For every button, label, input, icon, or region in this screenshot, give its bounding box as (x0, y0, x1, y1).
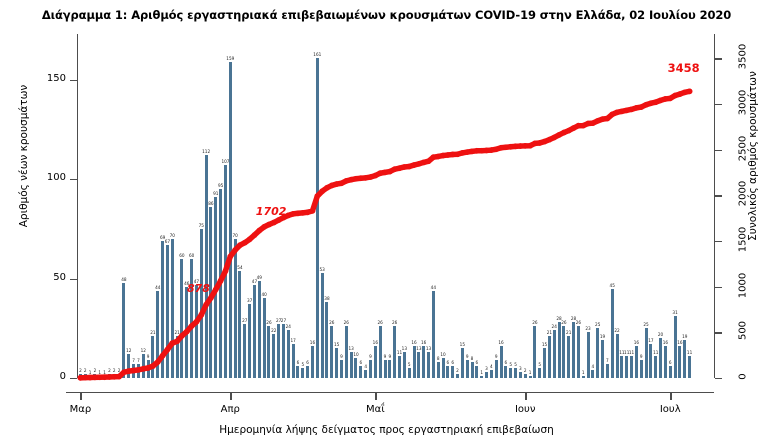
bar (475, 366, 478, 378)
bar (456, 374, 459, 378)
bar (79, 374, 82, 378)
bar (200, 229, 203, 378)
bar-value-label: 9 (147, 354, 150, 359)
bar (553, 330, 556, 378)
bar-value-label: 2 (94, 368, 97, 373)
bar-value-label: 8 (437, 356, 440, 361)
bar-value-label: 26 (392, 320, 397, 325)
bar (422, 346, 425, 378)
bar (674, 316, 677, 378)
bar (490, 370, 493, 378)
bar-value-label: 6 (669, 360, 672, 365)
chart-title: Διάγραμμα 1: Αριθμός εργαστηριακά επιβεβ… (0, 8, 773, 22)
bar-value-label: 5 (301, 362, 304, 367)
y-tick-label-right: 1500 (738, 219, 749, 259)
bar-value-label: 7 (132, 358, 135, 363)
bar-value-label: 11 (653, 350, 658, 355)
bar (166, 245, 169, 378)
bar-value-label: 5 (408, 362, 411, 367)
y-tick-label-right: 500 (738, 311, 749, 351)
bar (519, 372, 522, 378)
bar (683, 340, 686, 378)
bar (388, 360, 391, 378)
bar-value-label: 3 (519, 366, 522, 371)
x-tick (525, 393, 526, 400)
bar (98, 376, 101, 378)
bar (480, 376, 483, 378)
bar-value-label: 9 (388, 354, 391, 359)
bar-value-label: 16 (411, 340, 416, 345)
bar (567, 336, 570, 378)
bar (171, 239, 174, 378)
bar (267, 326, 270, 378)
y-tick-left (70, 378, 77, 379)
cumulative-annotation: 878 (187, 282, 210, 295)
y-tick-label-right: 2500 (738, 128, 749, 168)
cumulative-cases-line (0, 0, 773, 447)
bar-value-label: 25 (643, 322, 648, 327)
bar-value-label: 16 (498, 340, 503, 345)
bar (195, 285, 198, 378)
bar-value-label: 70 (232, 233, 237, 238)
bar-value-label: 86 (208, 201, 213, 206)
bar (277, 324, 280, 378)
bar (413, 346, 416, 378)
bar-value-label: 49 (257, 275, 262, 280)
bar-value-label: 6 (476, 360, 479, 365)
bar-value-label: 6 (359, 360, 362, 365)
y-tick-right (715, 58, 722, 59)
bar-value-label: 161 (313, 52, 321, 57)
bar (649, 344, 652, 378)
bar-value-label: 5 (538, 362, 541, 367)
bar (93, 374, 96, 378)
bar (630, 356, 633, 378)
bar-value-label: 67 (165, 239, 170, 244)
bar (606, 364, 609, 378)
bar-value-label: 4 (592, 364, 595, 369)
bar (524, 374, 527, 378)
y-tick-left (70, 80, 77, 81)
bar-value-label: 44 (155, 285, 160, 290)
bar-value-label: 7 (137, 358, 140, 363)
bar (161, 241, 164, 378)
bar-value-label: 5 (514, 362, 517, 367)
bar-value-label: 25 (595, 322, 600, 327)
y-axis-right-line (714, 34, 715, 378)
bar-value-label: 16 (663, 340, 668, 345)
bar (625, 356, 628, 378)
bar-value-label: 6 (451, 360, 454, 365)
bar-value-label: 9 (466, 354, 469, 359)
bar (601, 340, 604, 378)
bar (509, 368, 512, 378)
bar-value-label: 15 (542, 342, 547, 347)
bar (219, 189, 222, 378)
cumulative-annotation: 1702 (256, 205, 287, 218)
y-tick-right (715, 104, 722, 105)
bar (466, 360, 469, 378)
bar-value-label: 3 (485, 366, 488, 371)
bar (103, 376, 106, 378)
bar-value-label: 16 (634, 340, 639, 345)
bar-value-label: 4 (364, 364, 367, 369)
bar (253, 285, 256, 378)
bar-value-label: 48 (121, 277, 126, 282)
bar (446, 366, 449, 378)
bar-value-label: 1 (98, 370, 101, 375)
x-tick-label: Ιουν (495, 404, 555, 415)
bar (393, 326, 396, 378)
y-tick-left (70, 179, 77, 180)
bar-value-label: 60 (179, 253, 184, 258)
bar (596, 328, 599, 378)
bar (301, 368, 304, 378)
bar-value-label: 95 (218, 183, 223, 188)
bar-value-label: 2 (113, 368, 116, 373)
bar-value-label: 20 (658, 332, 663, 337)
bar (664, 346, 667, 378)
bar (645, 328, 648, 378)
bar (321, 273, 324, 378)
y-axis-left-label: Αριθμός νέων κρουσμάτων (18, 66, 30, 246)
bar-value-label: 31 (672, 310, 677, 315)
bar-value-label: 1 (582, 370, 585, 375)
y-tick-label-right: 0 (738, 357, 749, 397)
y-tick-right (715, 241, 722, 242)
bar (263, 298, 266, 378)
bar (108, 374, 111, 378)
bar-value-label: 159 (226, 56, 234, 61)
bar (248, 304, 251, 378)
bar-value-label: 13 (426, 346, 431, 351)
bar-value-label: 21 (150, 330, 155, 335)
bar-value-label: 6 (306, 360, 309, 365)
bar (408, 368, 411, 378)
bar (330, 326, 333, 378)
bar-value-label: 26 (576, 320, 581, 325)
bar (591, 370, 594, 378)
bar-value-label: 38 (324, 296, 329, 301)
bar-value-label: 11 (687, 350, 692, 355)
bar (306, 366, 309, 378)
y-axis-right-label: Συνολικός αριθμός κρουσμάτων (747, 51, 759, 261)
bar (562, 326, 565, 378)
x-tick-label: Ιουλ (640, 404, 700, 415)
bar (379, 326, 382, 378)
bar (654, 356, 657, 378)
bar-value-label: 17 (648, 338, 653, 343)
bar (384, 360, 387, 378)
bar-value-label: 2 (84, 368, 87, 373)
bar (272, 334, 275, 378)
x-tick-label: Μαΐ (345, 404, 405, 415)
bar (611, 289, 614, 378)
bar-value-label: 44 (431, 285, 436, 290)
bar (229, 62, 232, 378)
bar (287, 330, 290, 378)
bar-value-label: 2 (524, 368, 527, 373)
bar (234, 239, 237, 378)
y-tick-right (715, 332, 722, 333)
bar (325, 302, 328, 378)
bar (432, 291, 435, 378)
bar-value-label: 26 (266, 320, 271, 325)
bar-value-label: 26 (532, 320, 537, 325)
y-tick-label-left: 150 (36, 73, 66, 84)
bar-value-label: 2 (108, 368, 111, 373)
bar-value-label: 1 (103, 370, 106, 375)
bar (427, 352, 430, 378)
bar (180, 259, 183, 378)
bar (335, 348, 338, 378)
bar (635, 346, 638, 378)
bar (504, 366, 507, 378)
bar-value-label: 26 (377, 320, 382, 325)
bar (640, 360, 643, 378)
bar-value-label: 2 (456, 368, 459, 373)
bar-value-label: 9 (369, 354, 372, 359)
bar-value-label: 16 (421, 340, 426, 345)
x-tick-label: Απρ (200, 404, 260, 415)
bar (514, 368, 517, 378)
bar (190, 259, 193, 378)
bar (533, 326, 536, 378)
bar (548, 336, 551, 378)
bar (577, 326, 580, 378)
bar-value-label: 13 (402, 346, 407, 351)
bar-value-label: 23 (585, 326, 590, 331)
bar (316, 58, 319, 378)
bar-value-label: 19 (682, 334, 687, 339)
y-axis-left-line (77, 34, 78, 378)
bar (616, 334, 619, 378)
bar-value-label: 9 (384, 354, 387, 359)
bar (369, 360, 372, 378)
bar (437, 362, 440, 378)
bar (238, 271, 241, 378)
bar (354, 358, 357, 378)
bar (132, 364, 135, 378)
bar (151, 336, 154, 378)
bar-value-label: 9 (640, 354, 643, 359)
bar-value-label: 75 (199, 223, 204, 228)
x-axis-label: Ημερομηνία λήψης δείγματος προς εργαστηρ… (0, 424, 773, 436)
bar-value-label: 16 (310, 340, 315, 345)
bar-value-label: 27 (281, 318, 286, 323)
y-tick-label-right: 3500 (738, 37, 749, 77)
bar (345, 326, 348, 378)
bar-value-label: 21 (547, 330, 552, 335)
bar-value-label: 45 (610, 283, 615, 288)
bar-value-label: 6 (297, 360, 300, 365)
bar (471, 362, 474, 378)
bar (364, 370, 367, 378)
bar-value-label: 8 (471, 356, 474, 361)
y-tick-right (715, 195, 722, 196)
bar (669, 366, 672, 378)
bar-value-label: 5 (509, 362, 512, 367)
bar (156, 291, 159, 378)
bar (122, 283, 125, 378)
bar (678, 346, 681, 378)
bar (311, 346, 314, 378)
bar (84, 374, 87, 378)
bar (558, 322, 561, 378)
bar-value-label: 12 (141, 348, 146, 353)
bar-value-label: 1 (480, 370, 483, 375)
bar (296, 366, 299, 378)
bar (147, 360, 150, 378)
bar-value-label: 7 (606, 358, 609, 363)
bar-value-label: 70 (170, 233, 175, 238)
x-tick-label: Μαρ (50, 404, 110, 415)
bar (688, 356, 691, 378)
bar-value-label: 53 (319, 267, 324, 272)
bar (500, 346, 503, 378)
bar-value-label: 15 (334, 342, 339, 347)
y-tick-right (715, 378, 722, 379)
bar-value-label: 6 (505, 360, 508, 365)
bar (398, 356, 401, 378)
x-tick (670, 393, 671, 400)
bar (224, 165, 227, 378)
bar (137, 364, 140, 378)
bar-value-label: 9 (495, 354, 498, 359)
bar (282, 324, 285, 378)
bar-value-label: 17 (290, 338, 295, 343)
bar-value-label: 15 (460, 342, 465, 347)
bar (258, 281, 261, 378)
bar-value-label: 2 (79, 368, 82, 373)
bar-value-label: 4 (490, 364, 493, 369)
cumulative-annotation: 3458 (668, 61, 700, 75)
bar-value-label: 19 (600, 334, 605, 339)
bar-value-label: 11 (629, 350, 634, 355)
bar-value-label: 6 (447, 360, 450, 365)
bar-value-label: 26 (329, 320, 334, 325)
bar (243, 324, 246, 378)
bar (495, 360, 498, 378)
bar-value-label: 24 (286, 324, 291, 329)
bar-value-label: 13 (416, 346, 421, 351)
y-tick-label-left: 50 (36, 272, 66, 283)
bar (485, 372, 488, 378)
bar-value-label: 16 (677, 340, 682, 345)
bar-value-label: 1 (89, 370, 92, 375)
bar-value-label: 2 (118, 368, 121, 373)
bar-value-label: 26 (344, 320, 349, 325)
covid-cases-chart: Διάγραμμα 1: Αριθμός εργαστηριακά επιβεβ… (0, 0, 773, 447)
y-tick-label-right: 2000 (738, 174, 749, 214)
bar (118, 374, 121, 378)
bar (142, 354, 145, 378)
bar-value-label: 22 (271, 328, 276, 333)
bar-value-label: 60 (189, 253, 194, 258)
bar (529, 376, 532, 378)
y-tick-label-right: 1000 (738, 265, 749, 305)
y-tick-left (70, 279, 77, 280)
bar (582, 376, 585, 378)
bar-value-label: 24 (552, 324, 557, 329)
bar (185, 287, 188, 378)
bar (417, 352, 420, 378)
bar (442, 358, 445, 378)
bar (587, 332, 590, 378)
bar-value-label: 37 (247, 298, 252, 303)
bar-value-label: 91 (213, 191, 218, 196)
x-tick (375, 393, 376, 400)
bar-value-label: 26 (561, 320, 566, 325)
bar (350, 352, 353, 378)
bar (127, 354, 130, 378)
bar-value-label: 22 (614, 328, 619, 333)
bar-value-label: 40 (261, 292, 266, 297)
bar (451, 366, 454, 378)
bar (292, 344, 295, 378)
bar (538, 368, 541, 378)
bar (176, 336, 179, 378)
y-tick-label-left: 0 (36, 371, 66, 382)
y-tick-label-left: 100 (36, 172, 66, 183)
bar-value-label: 12 (126, 348, 131, 353)
x-tick (80, 393, 81, 400)
bar (113, 374, 116, 378)
bar-value-label: 112 (202, 149, 210, 154)
y-tick-label-right: 3000 (738, 82, 749, 122)
bar (461, 348, 464, 378)
bar (403, 352, 406, 378)
bar (359, 366, 362, 378)
bar-value-label: 10 (353, 352, 358, 357)
y-tick-right (715, 150, 722, 151)
bar-value-label: 1 (529, 370, 532, 375)
bar (340, 360, 343, 378)
bar (214, 197, 217, 378)
bar-value-label: 21 (566, 330, 571, 335)
y-tick-right (715, 287, 722, 288)
bar-value-label: 10 (440, 352, 445, 357)
bar (572, 322, 575, 378)
bar (374, 346, 377, 378)
bar-value-label: 27 (242, 318, 247, 323)
bar (620, 356, 623, 378)
bar-value-label: 16 (373, 340, 378, 345)
bar-value-label: 21 (174, 330, 179, 335)
bar-value-label: 13 (348, 346, 353, 351)
bar (89, 376, 92, 378)
bar (543, 348, 546, 378)
bar-value-label: 54 (237, 265, 242, 270)
x-axis-line (66, 392, 714, 393)
bar (659, 338, 662, 378)
bar (205, 155, 208, 378)
bar-value-label: 9 (340, 354, 343, 359)
x-tick (230, 393, 231, 400)
